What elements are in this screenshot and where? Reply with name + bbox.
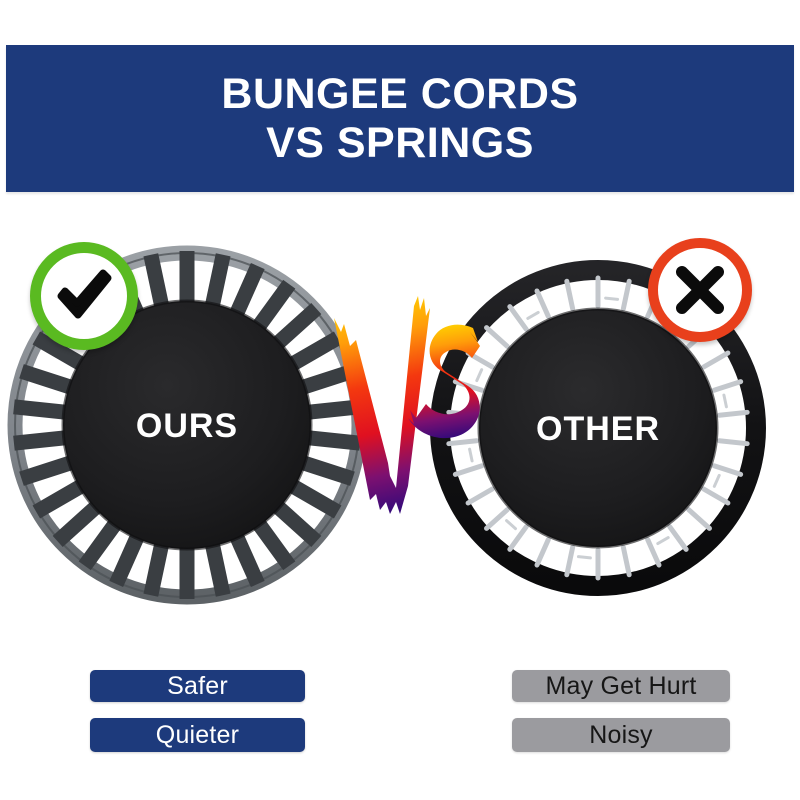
feature-pill-safer: Safer [90,670,305,702]
cross-icon [669,259,731,321]
vs-divider-graphic [330,288,482,543]
header-banner: BUNGEE CORDS VS SPRINGS [6,45,794,192]
feature-pill-quieter: Quieter [90,718,305,752]
left-product-label: OURS [136,407,238,445]
header-title-line-1: BUNGEE CORDS [221,70,578,118]
feature-pill-may-get-hurt: May Get Hurt [512,670,730,702]
promo-graphic: BUNGEE CORDS VS SPRINGS [0,0,800,800]
right-product-label: OTHER [536,410,660,448]
feature-pill-noisy: Noisy [512,718,730,752]
check-badge [30,242,138,350]
vs-letter-v [334,296,430,514]
header-title-line-2: VS SPRINGS [266,119,534,167]
cross-badge [648,238,752,342]
check-icon [51,263,117,329]
